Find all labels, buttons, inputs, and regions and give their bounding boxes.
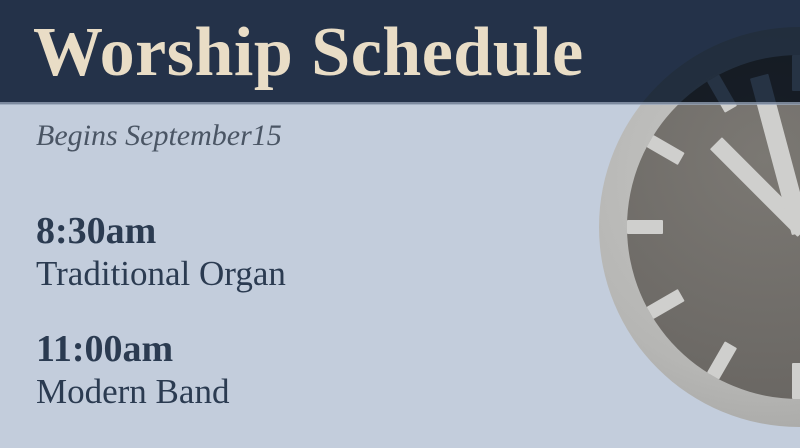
page-title: Worship Schedule: [33, 13, 584, 93]
service-name: Modern Band: [36, 371, 286, 413]
service-time: 11:00am: [36, 327, 286, 371]
list-item: 8:30am Traditional Organ: [36, 209, 286, 295]
service-name: Traditional Organ: [36, 253, 286, 295]
service-time: 8:30am: [36, 209, 286, 253]
service-list: 8:30am Traditional Organ 11:00am Modern …: [36, 209, 286, 413]
worship-schedule-poster: Worship Schedule Begins September15 8:30…: [0, 0, 800, 448]
clock-face: [627, 55, 800, 399]
start-date-subtitle: Begins September15: [36, 116, 282, 156]
clock-hour-ticks: [627, 55, 800, 399]
list-item: 11:00am Modern Band: [36, 327, 286, 413]
banner-divider: [0, 102, 800, 105]
